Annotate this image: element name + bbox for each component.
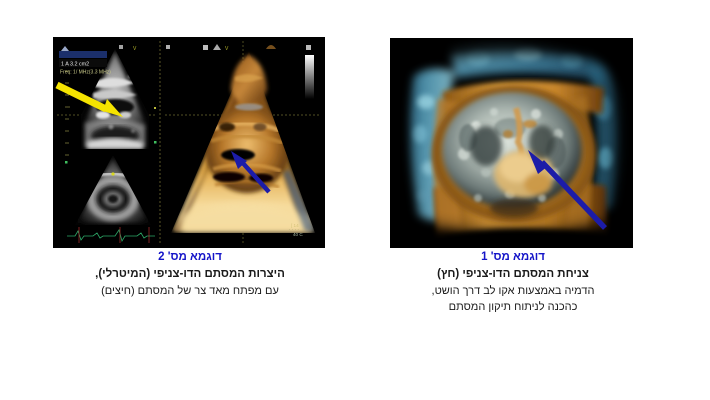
enface-3d-echocardiogram-image <box>390 38 633 248</box>
svg-text:· · · ·: · · · · <box>289 227 299 232</box>
grayscale-bar <box>305 55 314 99</box>
caption-left-line-1: היצרות המסתם הדו-צניפי (המיטרלי), <box>40 266 340 283</box>
figure-mitral-stenosis-echo[interactable]: V V 1 A 3.2 cm2 Freq: 1/ MHz(3.3 MHz) [ … <box>53 37 325 248</box>
caption-right-line-3: כהכנה לניתוח תיקון המסתם <box>383 299 643 316</box>
caption-right: דוגמא מס' 1 צניחת המסתם הדו-צניפי (חץ) ה… <box>383 249 643 316</box>
echo-screen-3d-enface <box>390 38 633 248</box>
caption-left: דוגמא מס' 2 היצרות המסתם הדו-צניפי (המיט… <box>40 249 340 299</box>
echo-screen-dual-pane: V V 1 A 3.2 cm2 Freq: 1/ MHz(3.3 MHz) [ … <box>53 37 325 248</box>
caption-right-title: דוגמא מס' 1 <box>383 249 643 265</box>
figure-mitral-prolapse-3d-echo[interactable] <box>390 38 633 248</box>
caption-right-line-2: הדמיה באמצעות אקו לב דרך הושט, <box>383 283 643 300</box>
svg-text:40 C: 40 C <box>293 232 303 237</box>
caption-right-line-1: צניחת המסתם הדו-צניפי (חץ) <box>383 266 643 283</box>
caption-left-title: דוגמא מס' 2 <box>40 249 340 265</box>
dual-pane-echocardiogram-image: V V 1 A 3.2 cm2 Freq: 1/ MHz(3.3 MHz) [ … <box>53 37 325 248</box>
svg-text:1 A 3.2 cm2: 1 A 3.2 cm2 <box>61 61 89 67</box>
slide-canvas: V V 1 A 3.2 cm2 Freq: 1/ MHz(3.3 MHz) [ … <box>0 0 710 400</box>
svg-text:Freq: 1/ MHz(3.3 MHz): Freq: 1/ MHz(3.3 MHz) <box>60 70 111 76</box>
caption-left-line-2: עם מפתח מאד צר של המסתם (חיצים) <box>40 283 340 300</box>
